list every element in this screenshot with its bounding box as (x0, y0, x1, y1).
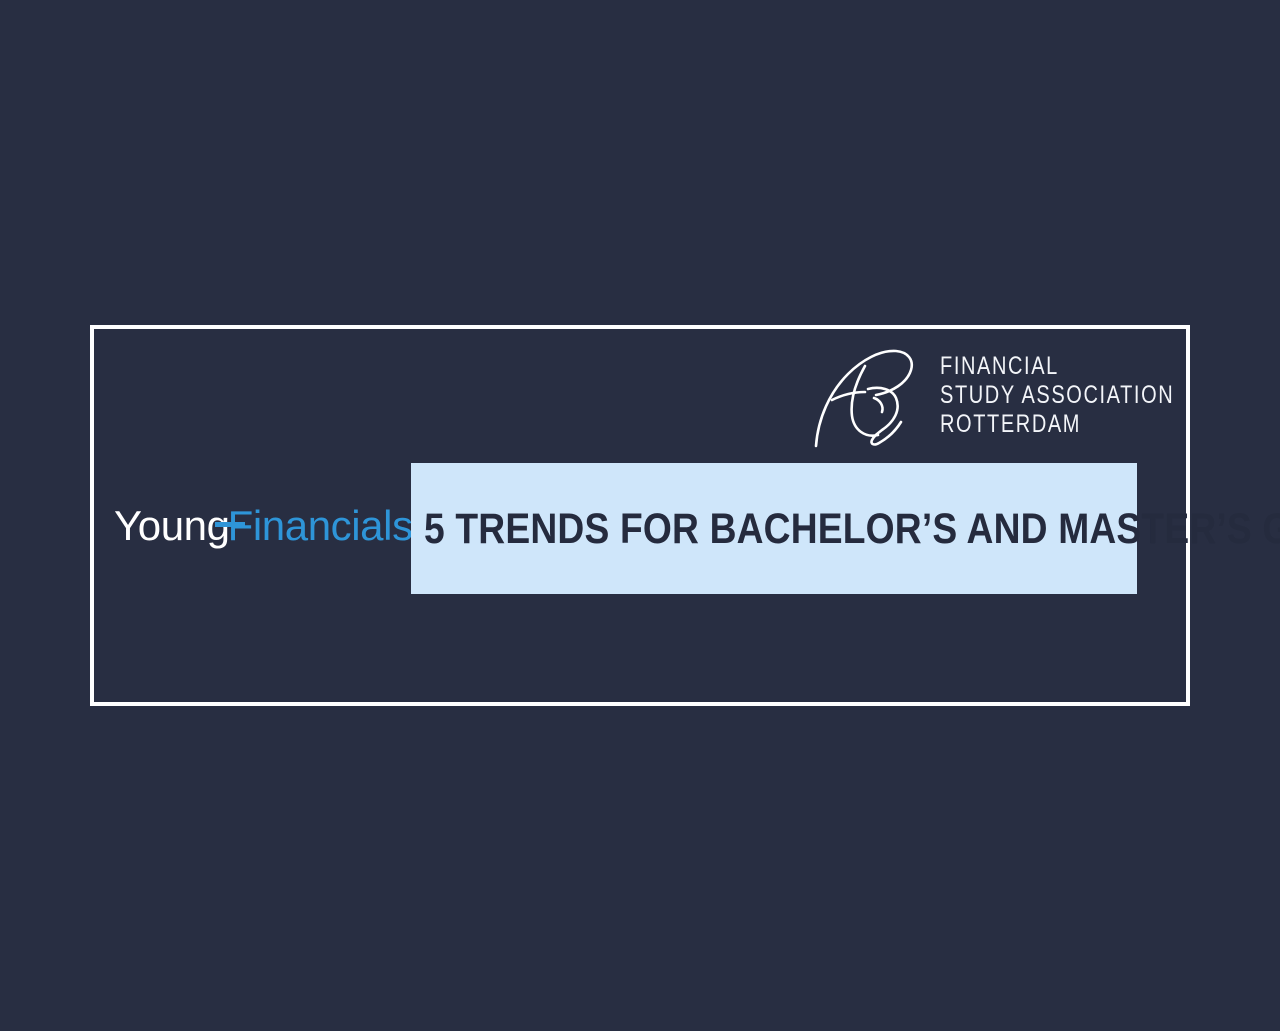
young-financials-logo: Young Financials (114, 503, 413, 549)
fsr-line-rotterdam: ROTTERDAM (940, 411, 1174, 438)
fsr-line-study-association: STUDY ASSOCIATION (940, 382, 1174, 409)
fsr-wordmark: FINANCIAL STUDY ASSOCIATION ROTTERDAM (940, 353, 1233, 440)
fsr-monogram-icon (808, 342, 924, 450)
young-financials-word-financials: Financials (228, 503, 413, 549)
f-crossbar-accent (215, 522, 245, 527)
young-financials-word-young: Young (114, 503, 230, 549)
young-financials-financials-text: Financials (228, 502, 413, 549)
headline-title: 5 TRENDS FOR BACHELOR’S AND MASTER’S GRA… (424, 507, 1280, 549)
headline-banner: 5 TRENDS FOR BACHELOR’S AND MASTER’S GRA… (411, 463, 1137, 594)
fsr-line-financial: FINANCIAL (940, 353, 1174, 380)
fsr-logo-lockup: FINANCIAL STUDY ASSOCIATION ROTTERDAM (808, 340, 1140, 452)
slide-canvas: FINANCIAL STUDY ASSOCIATION ROTTERDAM Yo… (0, 0, 1280, 1031)
